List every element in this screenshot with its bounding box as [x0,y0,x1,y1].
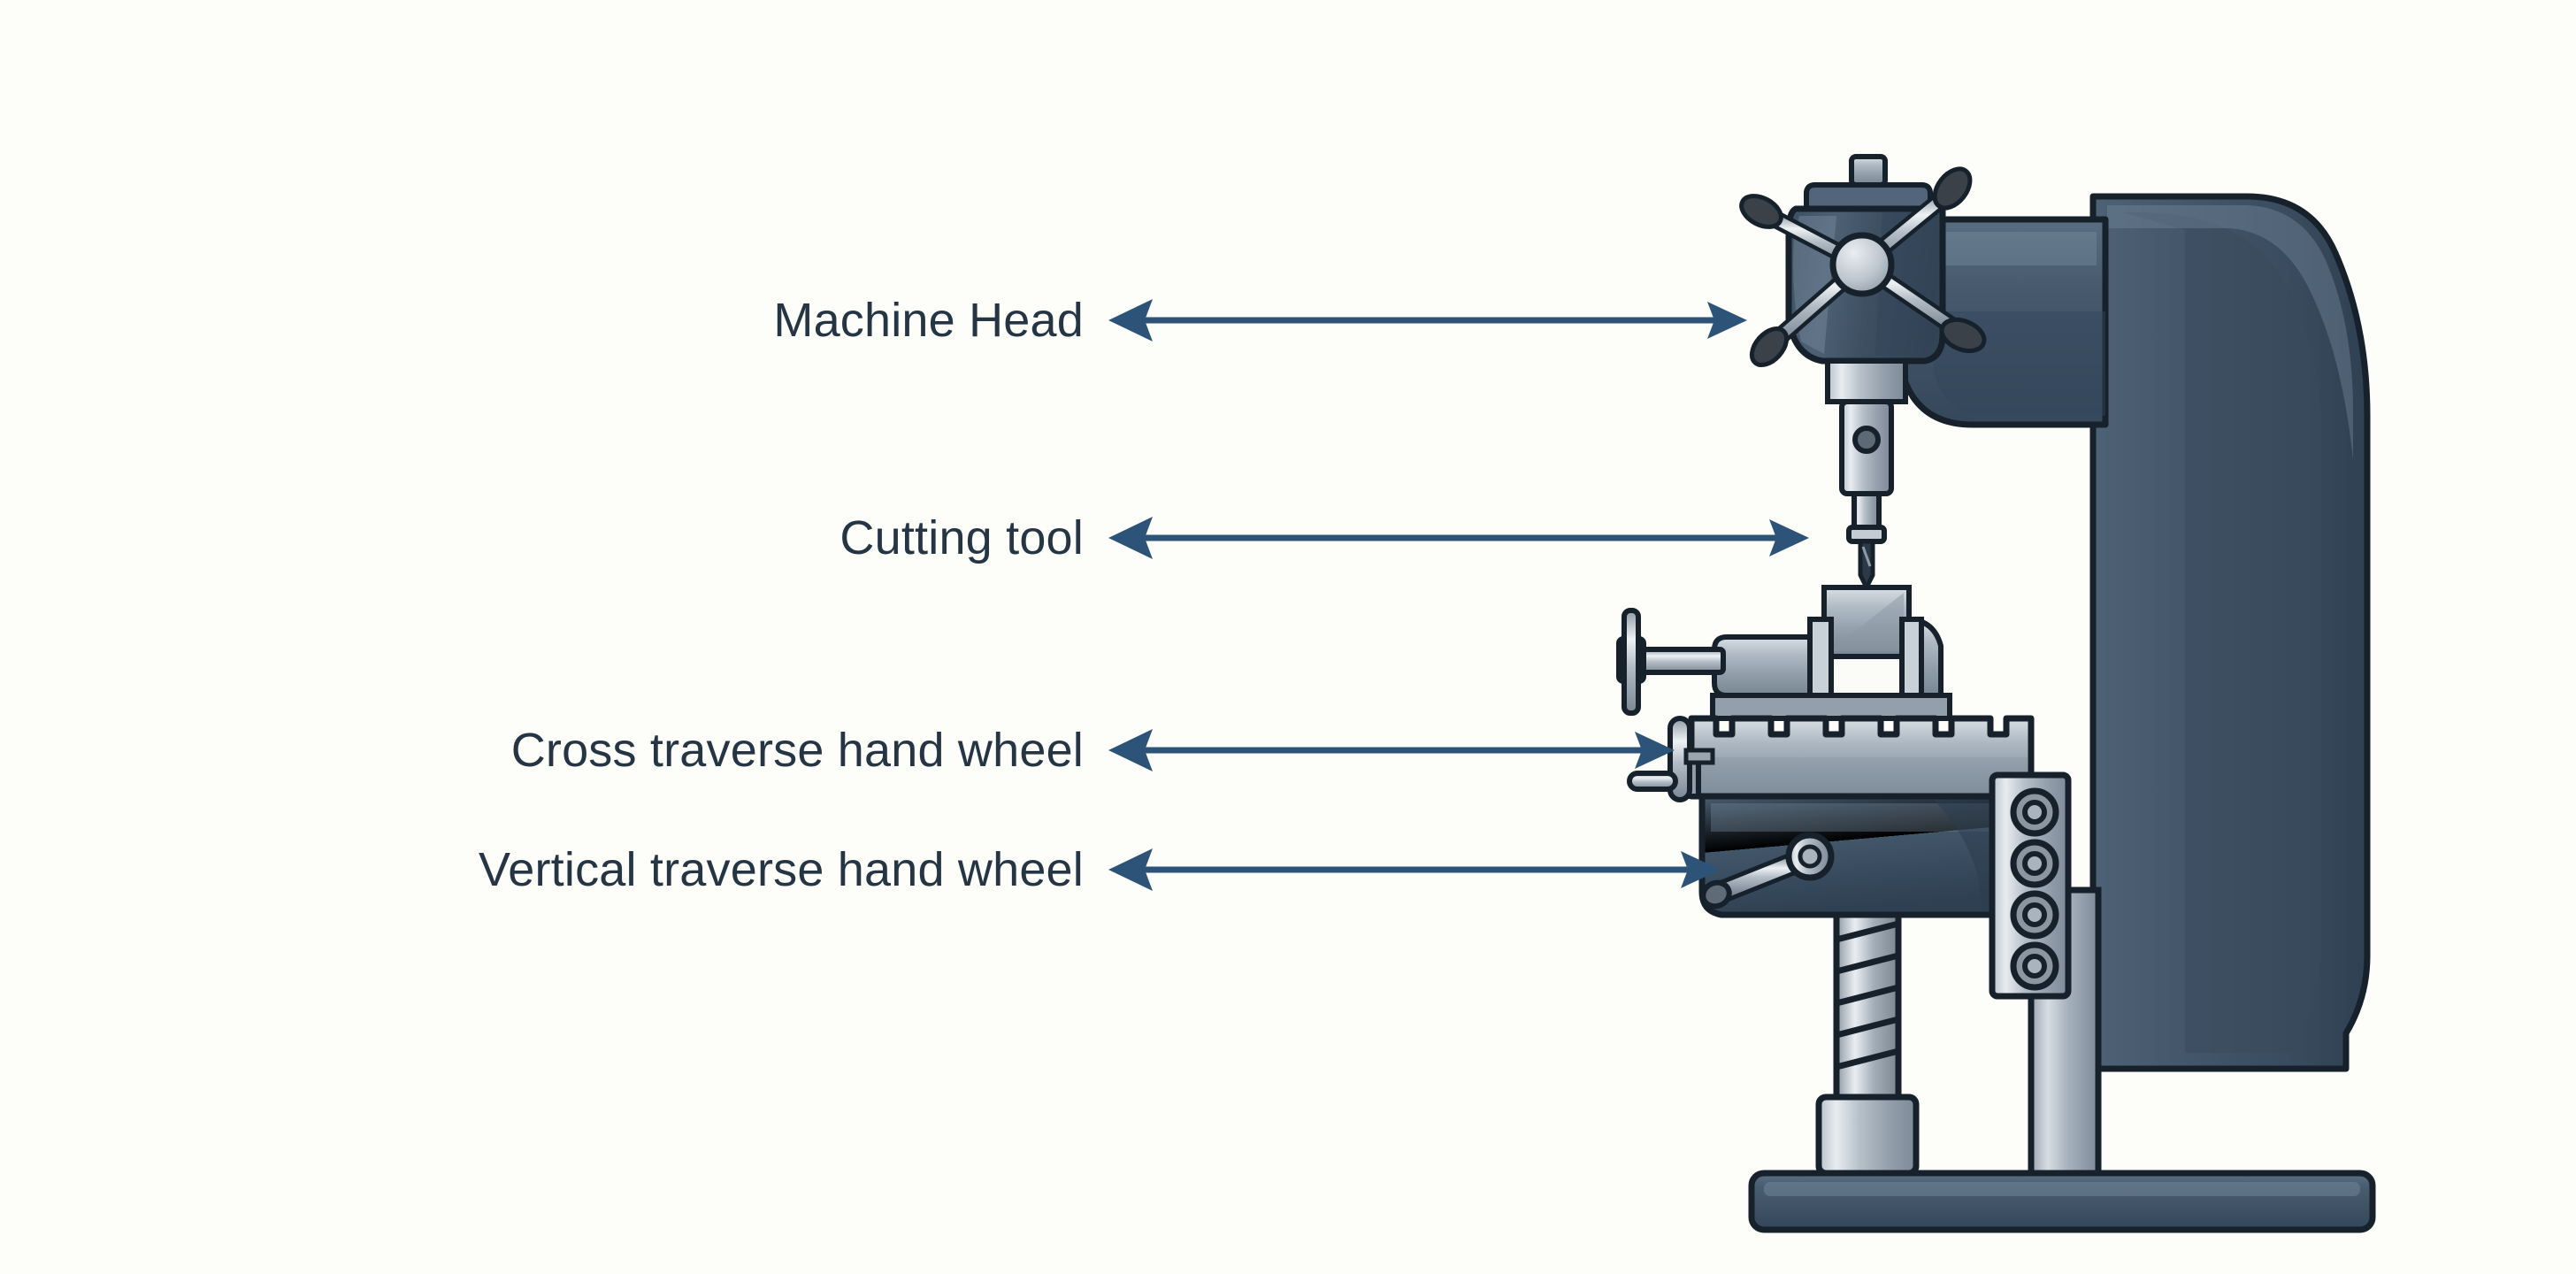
arrow-vertical-traverse [1108,848,1721,891]
vise-t-handle[interactable] [1619,610,1644,713]
handwheel-hub [1833,235,1891,294]
label-cutting-tool: Cutting tool [0,514,1084,562]
saddle-knee [1702,796,2035,915]
cutting-tool-bit [1860,541,1873,587]
arrow-machine-head [1108,299,1747,342]
screw-collar [1819,1097,1916,1173]
label-vertical-traverse-hand-wheel: Vertical traverse hand wheel [0,846,1084,894]
t-slot-table [1679,718,2031,796]
label-cross-traverse-hand-wheel: Cross traverse hand wheel [0,726,1084,774]
elevation-screw [1819,915,1916,1173]
label-machine-head: Machine Head [0,296,1084,344]
machine-vise [1619,610,1950,718]
workpiece [1824,587,1909,695]
base-plate [1752,1173,2373,1230]
vise-lead-screw [1642,649,1723,672]
diagram-canvas: Machine Head Cutting tool Cross traverse… [0,0,2576,1274]
arrow-cross-traverse [1108,729,1675,771]
arrow-cutting-tool [1108,517,1809,559]
quill-spindle [1842,402,1891,541]
bolt-plate [1992,775,2068,996]
column [2093,196,2367,1069]
head-top-knob [1851,157,1885,185]
milling-machine-illustration [0,0,2576,1274]
cross-wheel-handle [1629,773,1675,789]
